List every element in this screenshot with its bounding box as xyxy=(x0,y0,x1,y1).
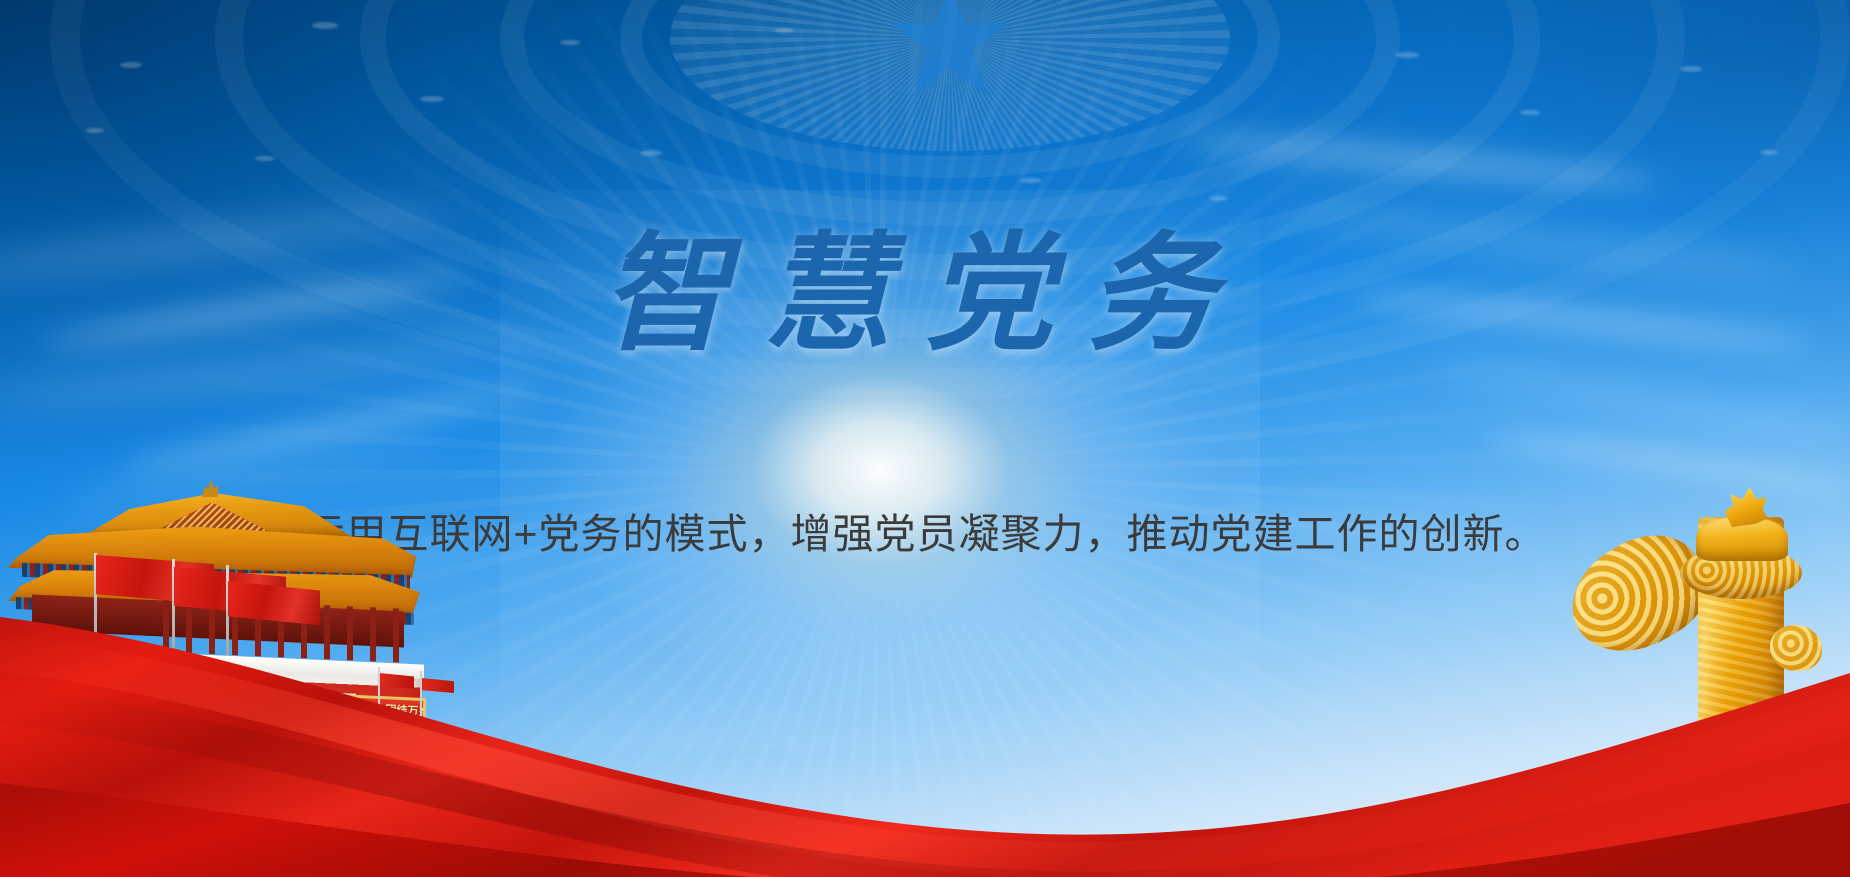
sky-fleck xyxy=(1680,66,1702,72)
huabiao-hou-beast-icon xyxy=(1724,487,1768,527)
red-silk-ribbon xyxy=(0,577,1850,877)
page-title: 智慧党务 xyxy=(0,228,1850,362)
sky-fleck xyxy=(86,128,104,133)
party-affairs-banner: 智慧党务 运用互联网+党务的模式，增强党员凝聚力，推动党建工作的创新。 中华人民… xyxy=(0,0,1850,877)
roof-ridge-ornament-icon xyxy=(202,479,218,497)
sky-fleck xyxy=(1760,150,1778,155)
